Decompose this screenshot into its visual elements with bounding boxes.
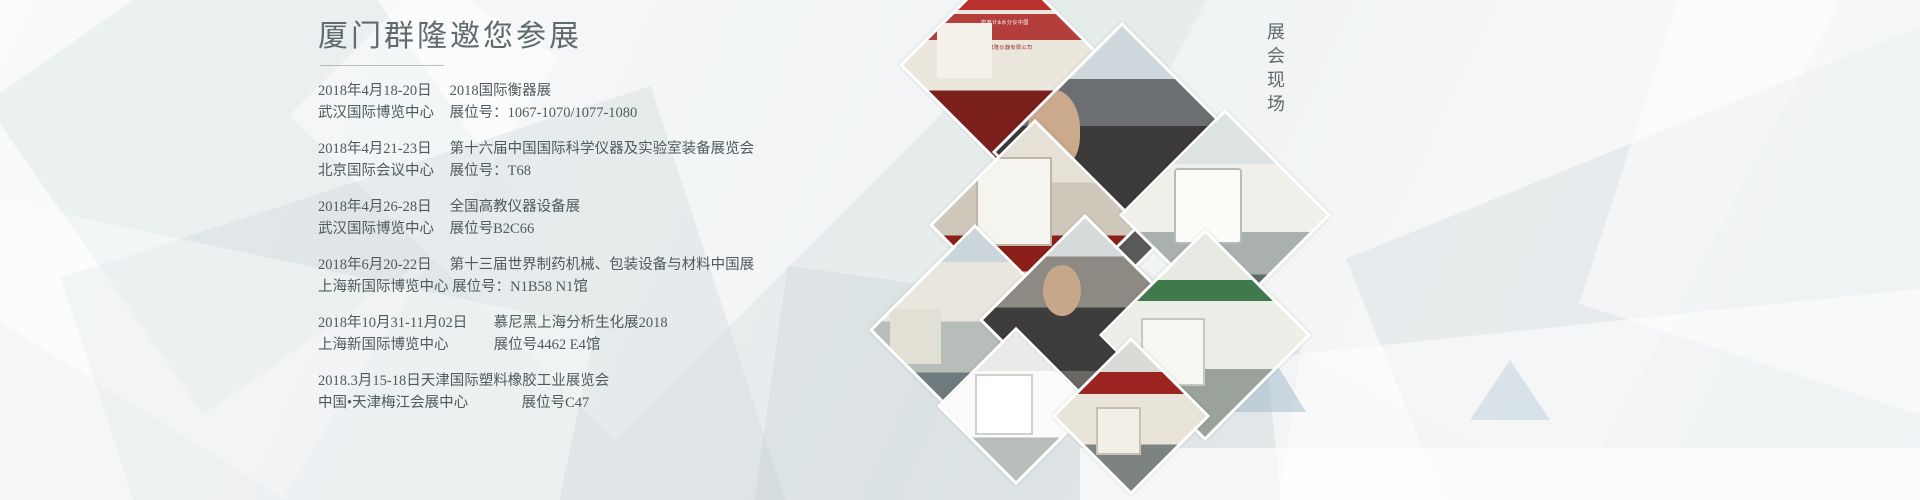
event-venue: 中国•天津梅江会展中心	[318, 392, 518, 414]
event-name: 2018国际衡器展	[450, 80, 552, 102]
event-name: 慕尼黑上海分析生化展2018	[494, 312, 668, 334]
event-booth: 展位号C47	[522, 392, 590, 414]
background-facet	[1579, 0, 1920, 434]
event-entry: 2018年4月21-23日 第十六届中国国际科学仪器及实验室装备展览会 北京国际…	[318, 138, 1078, 182]
event-date: 2018年4月26-28日	[318, 196, 446, 218]
photo-collage: 密度计&水分仪中国 厦门群隆仪器有限公司	[1020, 0, 1540, 500]
event-booth: 展位号4462 E4馆	[494, 334, 601, 356]
event-date: 2018年10月31-11月02日	[318, 312, 490, 334]
event-booth: 展位号：1067-1070/1077-1080	[450, 102, 638, 124]
event-venue: 武汉国际博览中心	[318, 218, 446, 240]
event-booth: 展位号：T68	[450, 160, 531, 182]
event-booth: 展位号B2C66	[450, 218, 535, 240]
event-name: 第十三届世界制药机械、包装设备与材料中国展	[450, 254, 755, 276]
event-date: 2018年4月21-23日	[318, 138, 446, 160]
event-venue: 北京国际会议中心	[318, 160, 446, 182]
title-underline	[320, 65, 444, 66]
event-venue: 上海新国际博览中心	[318, 276, 449, 298]
event-venue: 武汉国际博览中心	[318, 102, 446, 124]
event-venue: 上海新国际博览中心	[318, 334, 490, 356]
exhibition-banner: 厦门群隆邀您参展 2018年4月18-20日 2018国际衡器展 武汉国际博览中…	[0, 0, 1920, 500]
event-line-1: 2018年4月21-23日 第十六届中国国际科学仪器及实验室装备展览会	[318, 138, 1078, 160]
event-date: 2018年4月18-20日	[318, 80, 446, 102]
event-date: 2018年6月20-22日	[318, 254, 446, 276]
event-title-full: 2018.3月15-18日天津国际塑料橡胶工业展览会	[318, 370, 609, 392]
event-name: 第十六届中国国际科学仪器及实验室装备展览会	[450, 138, 755, 160]
photo-subcaption: 厦门群隆仪器有限公司	[899, 44, 1111, 51]
event-line-2: 北京国际会议中心 展位号：T68	[318, 160, 1078, 182]
event-name: 全国高教仪器设备展	[450, 196, 581, 218]
event-booth: 展位号：N1B58 N1馆	[452, 276, 588, 298]
